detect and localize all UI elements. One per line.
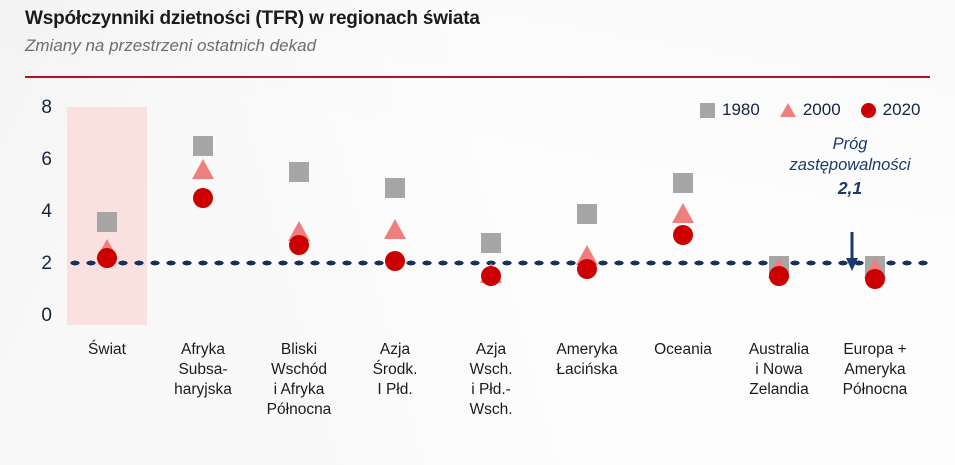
x-axis-label-line: Europa + — [825, 340, 925, 360]
x-axis-label-7: Australiai NowaZelandia — [729, 340, 829, 400]
data-point-1980-5 — [577, 204, 597, 224]
y-axis-tick: 0 — [18, 305, 52, 327]
tfr-scatter-chart: 02468 ŚwiatAfrykaSubsa-haryjskaBliskiWsc… — [0, 0, 955, 465]
x-axis-label-line: Oceania — [633, 340, 733, 360]
annotation-line-2: zastępowalności — [760, 155, 940, 176]
legend-label: 2020 — [883, 100, 921, 120]
threshold-annotation: Próg zastępowalności 2,1 — [760, 134, 940, 199]
data-point-1980-0 — [97, 212, 117, 232]
x-axis-label-line: Afryka — [153, 340, 253, 360]
x-axis-label-line: Środk. — [345, 360, 445, 380]
x-axis-label-line: Ameryka — [537, 340, 637, 360]
legend-item-2000[interactable]: 2000 — [780, 100, 841, 120]
data-point-2020-2 — [289, 235, 309, 255]
x-axis-label-line: Zelandia — [729, 380, 829, 400]
data-point-1980-2 — [289, 162, 309, 182]
y-axis-tick: 6 — [18, 149, 52, 171]
data-point-2020-6 — [673, 225, 693, 245]
data-point-2000-6 — [672, 203, 694, 223]
annotation-value: 2,1 — [760, 178, 940, 199]
y-axis-tick: 2 — [18, 253, 52, 275]
triangle-icon — [780, 103, 796, 117]
x-axis-label-line: Wschód — [249, 360, 349, 380]
x-axis-label-line: Wsch. — [441, 360, 541, 380]
circle-icon — [861, 103, 876, 118]
x-axis-label-line: i Płd.- — [441, 380, 541, 400]
square-icon — [700, 103, 715, 118]
annotation-line-1: Próg — [760, 134, 940, 155]
x-axis-label-0: Świat — [57, 340, 157, 360]
x-axis-label-line: Północna — [249, 400, 349, 420]
x-axis-label-3: AzjaŚrodk.I Płd. — [345, 340, 445, 400]
x-axis-label-2: BliskiWschódi AfrykaPółnocna — [249, 340, 349, 420]
data-point-2020-5 — [577, 259, 597, 279]
y-axis-tick: 4 — [18, 201, 52, 223]
x-axis-label-line: i Afryka — [249, 380, 349, 400]
legend-label: 2000 — [803, 100, 841, 120]
x-axis-label-line: I Płd. — [345, 380, 445, 400]
data-point-2000-3 — [384, 219, 406, 239]
data-point-2020-1 — [193, 188, 213, 208]
data-point-2000-1 — [192, 159, 214, 179]
x-axis-label-6: Oceania — [633, 340, 733, 360]
x-axis-label-line: Świat — [57, 340, 157, 360]
x-axis-label-line: Azja — [345, 340, 445, 360]
x-axis-label-line: Ameryka — [825, 360, 925, 380]
x-axis-label-8: Europa +AmerykaPółnocna — [825, 340, 925, 400]
legend-item-2020[interactable]: 2020 — [861, 100, 921, 120]
down-arrow-icon — [845, 232, 859, 272]
y-axis-tick: 8 — [18, 97, 52, 119]
x-axis-label-line: haryjska — [153, 380, 253, 400]
x-axis-label-line: Północna — [825, 380, 925, 400]
x-axis-label-line: Azja — [441, 340, 541, 360]
data-point-1980-1 — [193, 136, 213, 156]
x-axis-label-line: Wsch. — [441, 400, 541, 420]
x-axis-label-line: Bliski — [249, 340, 349, 360]
data-point-2020-7 — [769, 266, 789, 286]
x-axis-label-line: Australia — [729, 340, 829, 360]
data-point-2020-4 — [481, 266, 501, 286]
legend-label: 1980 — [722, 100, 760, 120]
data-point-1980-3 — [385, 178, 405, 198]
data-point-2020-3 — [385, 251, 405, 271]
chart-legend: 198020002020 — [700, 100, 920, 120]
x-axis-label-4: AzjaWsch.i Płd.-Wsch. — [441, 340, 541, 420]
data-point-1980-4 — [481, 233, 501, 253]
data-point-2020-8 — [865, 269, 885, 289]
x-axis-label-1: AfrykaSubsa-haryjska — [153, 340, 253, 400]
x-axis-label-5: AmerykaŁacińska — [537, 340, 637, 380]
legend-item-1980[interactable]: 1980 — [700, 100, 760, 120]
x-axis-label-line: Łacińska — [537, 360, 637, 380]
x-axis-label-line: i Nowa — [729, 360, 829, 380]
data-point-1980-6 — [673, 173, 693, 193]
x-axis-label-line: Subsa- — [153, 360, 253, 380]
